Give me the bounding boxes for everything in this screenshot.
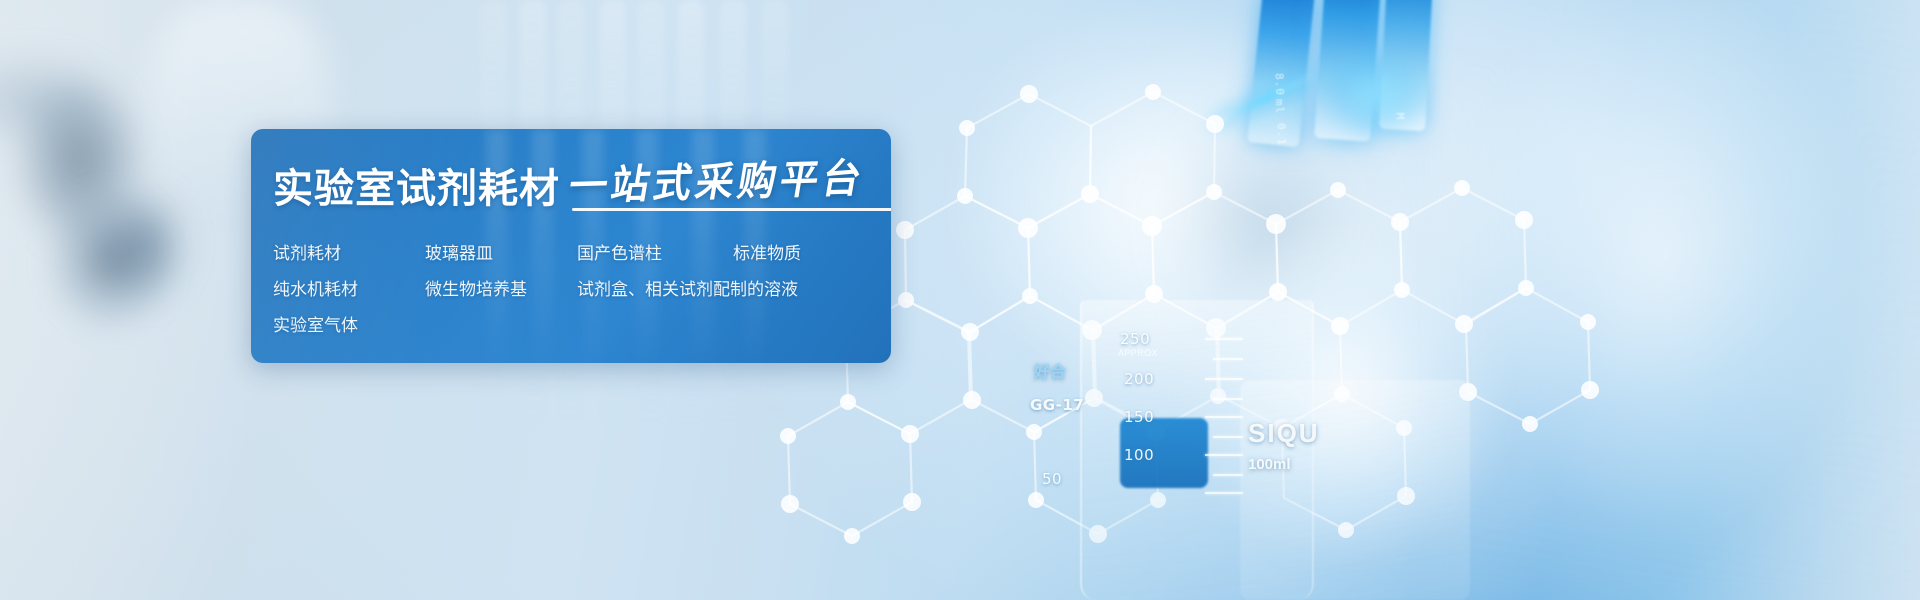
beaker-label-approx: APPROX: [1118, 348, 1158, 358]
headline-underline: [572, 208, 891, 211]
beaker-tick-minor-2: [1213, 398, 1243, 400]
category-link-reference-material[interactable]: 标准物质: [733, 246, 801, 263]
beaker-tick-150: [1205, 416, 1243, 418]
vial-glow: [1300, 30, 1450, 160]
beaker-tick-minor-1: [1213, 358, 1243, 360]
headline-script-wrapper: 一站式采购平台: [570, 163, 864, 209]
vial-label-concentration: 0.1: [1275, 123, 1289, 146]
beaker-label-250: 250: [1120, 330, 1150, 348]
beaker-tick-200: [1205, 378, 1243, 380]
beaker-brand-code: GG-17: [1030, 396, 1084, 414]
category-row: 实验室气体: [273, 308, 891, 344]
category-link-water-purifier-consumables[interactable]: 纯水机耗材: [273, 282, 425, 299]
beaker-label-50: 50: [1042, 470, 1062, 488]
headline-main-text: 实验室试剂耗材: [273, 169, 560, 209]
headline-script-text: 一站式采购平台: [566, 158, 868, 206]
beaker-tick-100: [1205, 454, 1243, 456]
category-link-microbial-culture-media[interactable]: 微生物培养基: [425, 282, 577, 299]
category-row: 纯水机耗材 微生物培养基 试剂盒、相关试剂配制的溶液: [273, 272, 891, 308]
flask-right: [1240, 380, 1470, 600]
beaker-tick-50: [1205, 492, 1243, 494]
promo-panel: 实验室试剂耗材 一站式采购平台 试剂耗材 玻璃器皿 国产色谱柱 标准物质 纯水机…: [251, 129, 891, 363]
glove-highlight-right: [1430, 0, 1920, 600]
category-link-domestic-chromatography-column[interactable]: 国产色谱柱: [577, 246, 733, 263]
category-list: 试剂耗材 玻璃器皿 国产色谱柱 标准物质 纯水机耗材 微生物培养基 试剂盒、相关…: [273, 236, 891, 344]
category-link-laboratory-gas[interactable]: 实验室气体: [273, 318, 425, 335]
beaker-tick-250: [1205, 338, 1243, 340]
category-link-reagent-kits-solutions[interactable]: 试剂盒、相关试剂配制的溶液: [577, 282, 798, 299]
category-link-glassware[interactable]: 玻璃器皿: [425, 246, 577, 263]
beaker-tick-minor-3: [1213, 436, 1243, 438]
vial-label-unit: ml: [1273, 99, 1287, 115]
category-row: 试剂耗材 玻璃器皿 国产色谱柱 标准物质: [273, 236, 891, 272]
vial-label-volume: 8.0: [1273, 73, 1287, 96]
flask-brand-label: SIQU: [1248, 418, 1320, 449]
banner-stage: 8.0 ml 0.1 M: [0, 0, 1920, 600]
beaker-label-200: 200: [1124, 370, 1154, 388]
headline: 实验室试剂耗材 一站式采购平台: [273, 155, 891, 209]
vial-label-molarity: M: [1393, 112, 1406, 120]
beaker-brand-cn: 好合: [1034, 358, 1066, 382]
flask-volume-label: 100ml: [1248, 456, 1291, 473]
beaker-label-100: 100: [1124, 446, 1154, 464]
category-link-reagent-consumables[interactable]: 试剂耗材: [273, 246, 425, 263]
beaker-label-150: 150: [1124, 408, 1154, 426]
beaker-tick-minor-4: [1213, 474, 1243, 476]
